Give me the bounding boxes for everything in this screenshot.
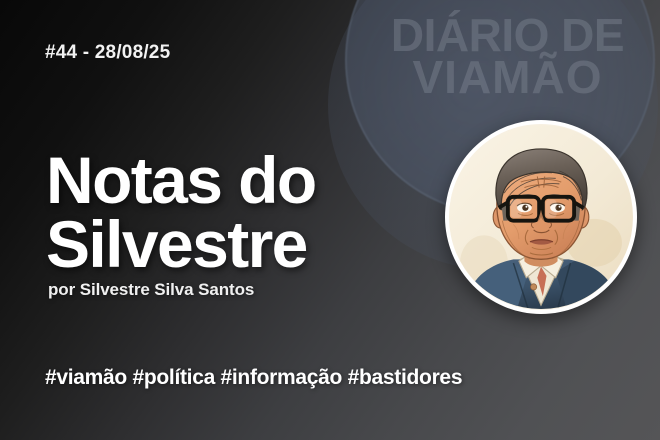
headline-block: Notas do Silvestre por Silvestre Silva S… (46, 148, 446, 300)
title-line-1: Notas do (46, 148, 446, 212)
newsletter-banner: DIÁRIO DE VIAMÃO #44 - 28/08/25 Notas do… (0, 0, 660, 440)
hashtag-line: #viamão #política #informação #bastidore… (45, 366, 462, 390)
page-title: Notas do Silvestre (46, 148, 446, 276)
watermark-line-2: VIAMÃO (413, 51, 603, 103)
author-portrait-illustration (449, 124, 633, 310)
title-line-2: Silvestre (46, 212, 446, 276)
watermark-logotype: DIÁRIO DE VIAMÃO (355, 14, 660, 99)
author-avatar (445, 120, 637, 314)
issue-date-label: #44 - 28/08/25 (45, 42, 170, 64)
author-byline: por Silvestre Silva Santos (48, 280, 446, 300)
